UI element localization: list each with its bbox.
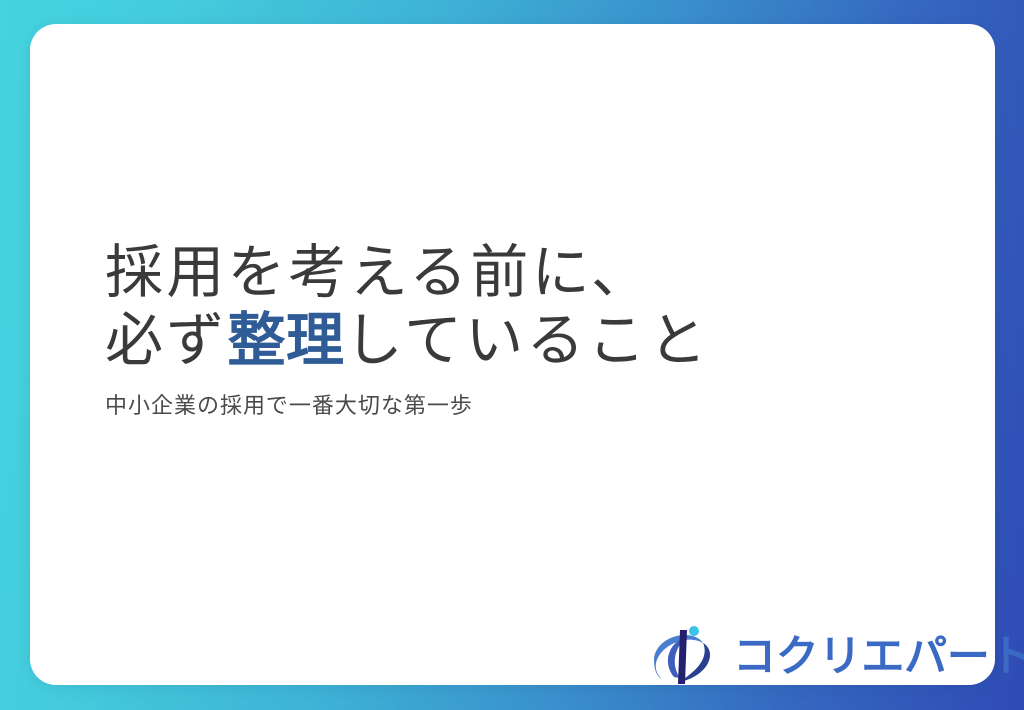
brand-logo: コクリエパートナー (646, 622, 1024, 692)
brand-wordmark: コクリエパートナー (733, 633, 1024, 681)
page-title: 採用を考える前に、 必ず整理していること (105, 239, 905, 375)
cocrea-phi-swoosh-icon (646, 622, 720, 692)
title-line-2-prefix: 必ず (105, 308, 227, 373)
slide-content-block: 採用を考える前に、 必ず整理していること 中小企業の採用で一番大切な第一歩 (105, 239, 905, 421)
title-highlight-word: 整理 (227, 308, 344, 373)
slide-root: 採用を考える前に、 必ず整理していること 中小企業の採用で一番大切な第一歩 コク… (0, 0, 1024, 710)
title-line-1: 採用を考える前に、 (105, 239, 905, 307)
title-line-2: 必ず整理していること (105, 307, 905, 375)
title-line-2-suffix: していること (345, 308, 710, 373)
slide-card: 採用を考える前に、 必ず整理していること 中小企業の採用で一番大切な第一歩 コク… (30, 24, 995, 685)
page-subtitle: 中小企業の採用で一番大切な第一歩 (105, 391, 905, 421)
